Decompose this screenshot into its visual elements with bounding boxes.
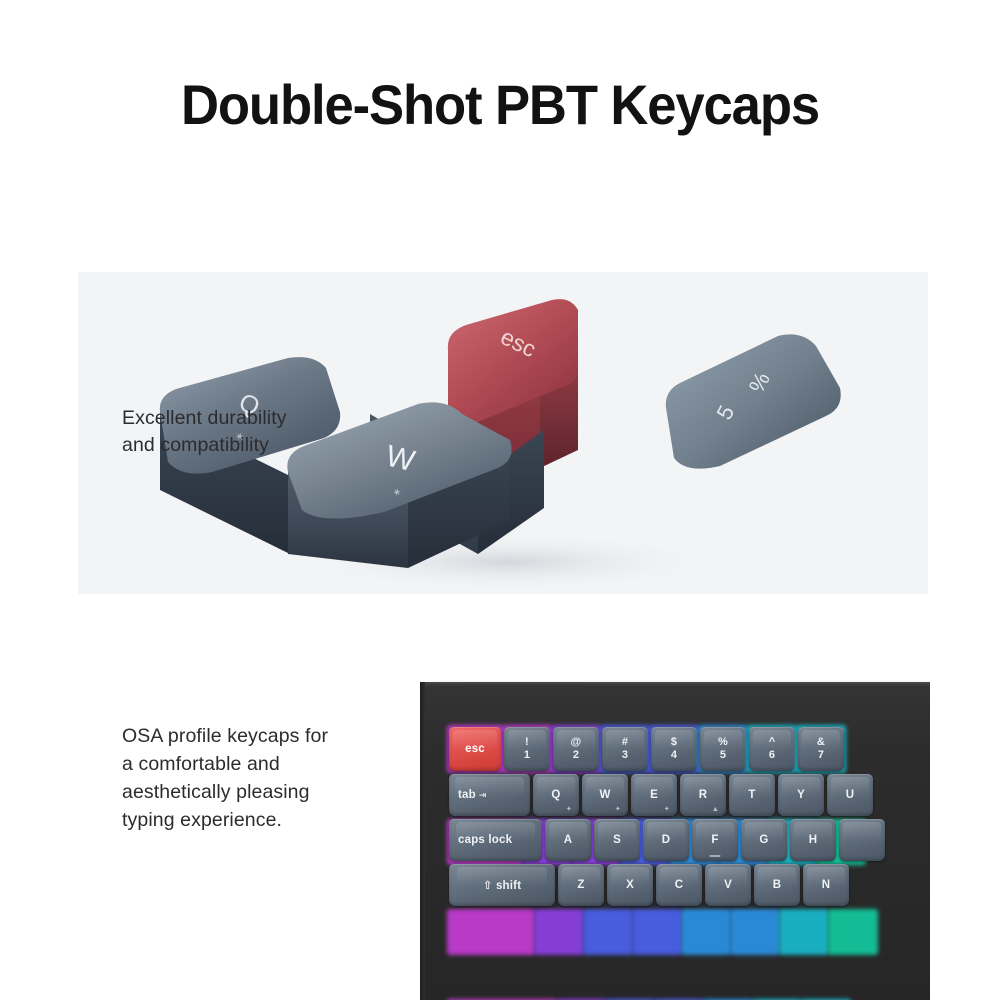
key-underglow [632, 909, 682, 955]
osa-profile-caption: OSA profile keycaps for a comfortable an… [122, 722, 402, 834]
keyboard-row-shift-row: ⇧ shiftZXCVBN [449, 864, 852, 906]
key-legend: S [613, 834, 621, 846]
key-z[interactable]: Z [558, 864, 604, 906]
page-title: Double-Shot PBT Keycaps [30, 72, 970, 137]
key-t[interactable]: T [729, 774, 775, 816]
key-legend: tab [458, 789, 476, 801]
key-u[interactable]: U [827, 774, 873, 816]
key-r[interactable]: R▲ [680, 774, 726, 816]
key-legend-bottom: 3 [622, 750, 628, 762]
key-legend-top: $ [671, 737, 677, 749]
key-e[interactable]: E✦ [631, 774, 677, 816]
key-legend-top: ^ [769, 737, 776, 749]
key-legend: U [846, 789, 855, 801]
key-legend: W [599, 789, 610, 801]
key-esc[interactable]: esc [449, 727, 501, 771]
durability-caption-line-1: Excellent durability [122, 405, 392, 432]
key-2[interactable]: @2 [553, 727, 599, 771]
key-legend: G [759, 834, 768, 846]
key-legend: T [748, 789, 755, 801]
key-legend-top: & [817, 737, 825, 749]
key-underglow [583, 909, 633, 955]
keyboard-row-number-row: esc!1@2#3$4%5^6&7 [449, 727, 847, 771]
key-f[interactable]: F [692, 819, 738, 861]
key-a[interactable]: A [545, 819, 591, 861]
keyboard-row-tab-row: tab⇥Q✦W✦E✦R▲TYU [449, 774, 876, 816]
key-legend: esc [465, 743, 485, 755]
keyboard-row-home-row: caps lockASDFGH [449, 819, 888, 861]
osa-caption-line-3: aesthetically pleasing [122, 778, 402, 806]
key-legend: F [711, 834, 718, 846]
key-legend: caps lock [458, 834, 512, 846]
key-y[interactable]: Y [778, 774, 824, 816]
osa-caption-line-1: OSA profile keycaps for [122, 722, 402, 750]
key-legend: D [662, 834, 671, 846]
key-w[interactable]: W✦ [582, 774, 628, 816]
key-legend-top: % [718, 737, 728, 749]
key-legend: E [650, 789, 658, 801]
durability-caption-line-2: and compatibility [122, 432, 392, 459]
key-b[interactable]: B [754, 864, 800, 906]
key-d[interactable]: D [643, 819, 689, 861]
osa-caption-line-2: a comfortable and [122, 750, 402, 778]
key-legend: B [773, 879, 782, 891]
bluetooth-icon: ✦ [615, 805, 621, 813]
key-legend-top: # [622, 737, 628, 749]
key-7[interactable]: &7 [798, 727, 844, 771]
key-legend-bottom: 1 [524, 750, 530, 762]
key-5[interactable]: %5 [700, 727, 746, 771]
tab-arrows-icon: ⇥ [479, 790, 487, 801]
key-1[interactable]: !1 [504, 727, 550, 771]
key-tab[interactable]: tab⇥ [449, 774, 530, 816]
osa-caption-line-4: typing experience. [122, 806, 402, 834]
key-legend-bottom: 2 [573, 750, 579, 762]
key-legend: H [809, 834, 818, 846]
key-j[interactable] [839, 819, 885, 861]
key-legend-bottom: 6 [769, 750, 775, 762]
keyboard-left-edge [420, 682, 425, 1000]
key-s[interactable]: S [594, 819, 640, 861]
key-g[interactable]: G [741, 819, 787, 861]
key-n[interactable]: N [803, 864, 849, 906]
bluetooth-icon: ✦ [664, 805, 670, 813]
key-underglow [447, 909, 535, 955]
key-v[interactable]: V [705, 864, 751, 906]
key-underglow [681, 909, 731, 955]
key-legend: V [724, 879, 732, 891]
key-6[interactable]: ^6 [749, 727, 795, 771]
key-underglow [534, 909, 584, 955]
key-4[interactable]: $4 [651, 727, 697, 771]
key-legend: X [626, 879, 634, 891]
key-legend: Y [797, 789, 805, 801]
keyboard-top-notch [467, 672, 582, 681]
key-legend: A [564, 834, 573, 846]
key-underglow [828, 909, 878, 955]
homing-bar [710, 855, 721, 857]
key-q[interactable]: Q✦ [533, 774, 579, 816]
key-legend-top: @ [571, 737, 582, 749]
key-legend: Q [551, 789, 560, 801]
key-legend-top: ! [525, 737, 529, 749]
key-legend: R [699, 789, 708, 801]
key-c[interactable]: C [656, 864, 702, 906]
key-legend: ⇧ shift [483, 878, 522, 892]
key-legend-bottom: 7 [818, 750, 824, 762]
key-legend: N [822, 879, 831, 891]
key-legend-bottom: 5 [720, 750, 726, 762]
key-underglow [779, 909, 829, 955]
durability-caption: Excellent durability and compatibility [122, 405, 392, 459]
keyboard-photo: esc!1@2#3$4%5^6&7tab⇥Q✦W✦E✦R▲TYUcaps loc… [420, 672, 930, 1000]
key-legend: Z [577, 879, 584, 891]
key-legend-bottom: 4 [671, 750, 677, 762]
wifi-icon: ▲ [712, 806, 719, 813]
key-caps-lock[interactable]: caps lock [449, 819, 542, 861]
key-legend: C [675, 879, 684, 891]
key-underglow [730, 909, 780, 955]
key-3[interactable]: #3 [602, 727, 648, 771]
key-x[interactable]: X [607, 864, 653, 906]
keyboard-top-edge [420, 682, 930, 686]
key-shift[interactable]: ⇧ shift [449, 864, 555, 906]
bluetooth-icon: ✦ [566, 805, 572, 813]
marketing-page: Double-Shot PBT Keycaps [0, 0, 1000, 1000]
key-h[interactable]: H [790, 819, 836, 861]
